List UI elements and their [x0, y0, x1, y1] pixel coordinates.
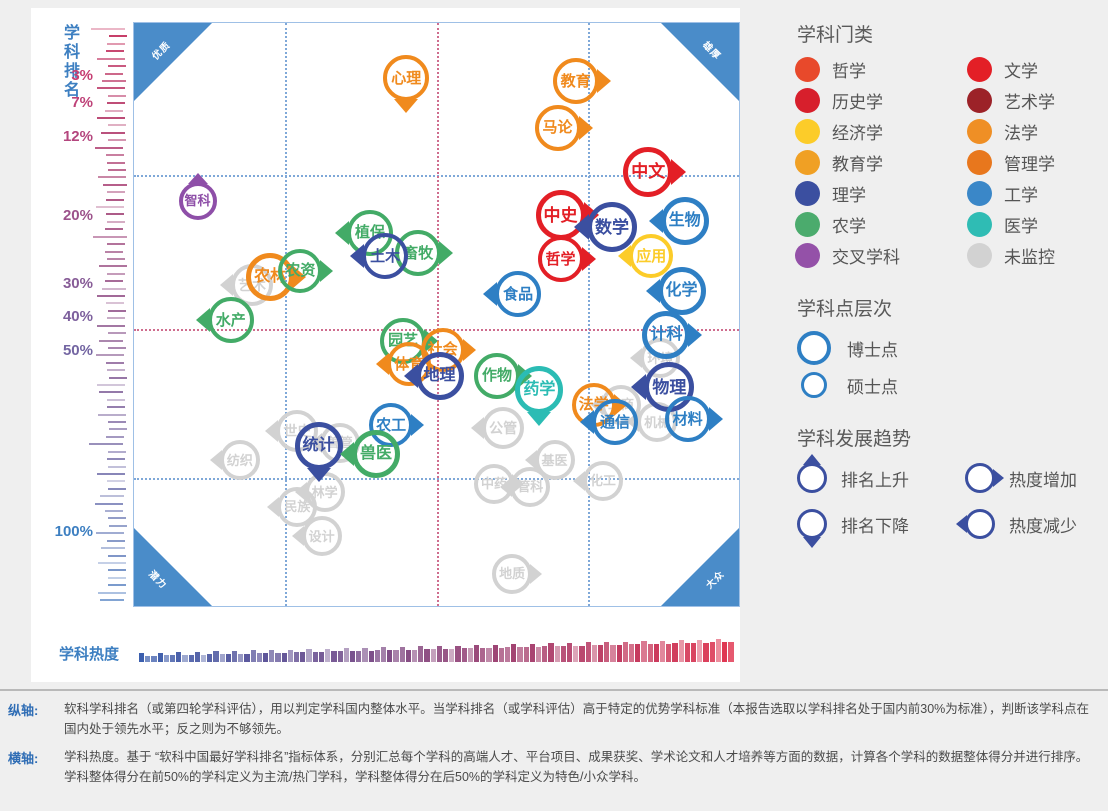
trend-left-icon	[267, 497, 279, 517]
legend-trend-label: 排名下降	[841, 512, 909, 537]
quadrant-divider-vertical	[437, 23, 439, 606]
x-axis-tick	[468, 648, 473, 662]
legend-item-未监控[interactable]: 未监控	[967, 243, 1095, 268]
bubble-label: 地质	[499, 567, 525, 580]
bubble-label: 农资	[285, 263, 315, 278]
y-axis-tick	[107, 540, 125, 542]
legend-level-label: 博士点	[847, 336, 898, 361]
bubble-管科[interactable]: 管科	[510, 467, 550, 507]
x-axis-tick	[306, 649, 311, 662]
y-axis-tick	[102, 80, 126, 82]
y-axis-tick	[106, 199, 124, 201]
legend-trend-label: 排名上升	[841, 466, 909, 491]
legend-item-农学[interactable]: 农学	[795, 212, 967, 237]
y-axis-tick	[100, 495, 124, 497]
trend-left-icon	[618, 245, 631, 267]
y-axis-tick	[95, 503, 123, 505]
y-axis-tick	[98, 176, 126, 178]
y-axis-tick	[91, 28, 125, 30]
y-axis-tick	[107, 43, 125, 45]
legend-swatch-icon	[795, 150, 820, 175]
y-axis-tick	[109, 525, 127, 527]
y-axis-tick	[99, 391, 123, 393]
y-axis-tick	[108, 310, 126, 312]
y-axis-tick-label: 100%	[55, 523, 93, 540]
x-axis-tick	[400, 647, 405, 662]
legend-trend-label: 热度增加	[1009, 466, 1077, 491]
bubble-水产[interactable]: 水产	[208, 297, 254, 343]
legend-swatch-icon	[967, 181, 992, 206]
bubble-label: 纺织	[227, 454, 253, 467]
x-axis-tick	[517, 647, 522, 662]
legend-item-经济学[interactable]: 经济学	[795, 119, 967, 144]
x-axis-tick	[350, 651, 355, 662]
bubble-label: 数学	[595, 219, 629, 236]
trend-right-icon	[320, 260, 333, 282]
footnote-row: 横轴: 学科热度。基于 “软科中国最好学科排名”指标体系，分别汇总每个学科的高端…	[8, 747, 1108, 787]
x-axis-tick	[505, 647, 510, 662]
y-axis-tick	[108, 139, 126, 141]
y-axis-tick-label: 50%	[63, 342, 93, 359]
x-axis-tick	[338, 651, 343, 662]
bubble-化工[interactable]: 化工	[583, 461, 623, 501]
legend-item-教育学[interactable]: 教育学	[795, 150, 967, 175]
bubble-label: 食品	[503, 287, 533, 302]
y-axis-tick	[108, 347, 126, 349]
quadrant-corner-bottom-left	[134, 528, 212, 606]
x-axis-tick	[617, 645, 622, 662]
legend-level-硕士点[interactable]: 硕士点	[795, 372, 1095, 398]
trend-right-icon	[597, 69, 611, 93]
y-axis-tick	[108, 517, 126, 519]
x-axis-tick	[722, 642, 727, 662]
x-axis-tick	[610, 645, 615, 662]
bubble-label: 心理	[391, 71, 421, 86]
bubble-label: 药学	[523, 382, 555, 398]
bubble-计科[interactable]: 计科	[642, 311, 690, 359]
legend-swatch-icon	[795, 181, 820, 206]
footnotes: 纵轴: 软科学科排名（或第四轮学科评估），用以判定学科国内整体水平。当学科排名（…	[0, 689, 1108, 811]
bubble-哲学[interactable]: 哲学	[538, 236, 584, 282]
legend-item-label: 教育学	[832, 150, 883, 175]
footnote-text: 学科热度。基于 “软科中国最好学科排名”指标体系，分别汇总每个学科的高端人才、平…	[64, 747, 1094, 787]
x-axis-tick	[629, 644, 634, 662]
bubble-label: 基医	[541, 454, 567, 467]
x-axis-tick	[542, 646, 547, 662]
x-axis-tick	[716, 639, 721, 662]
level-ring-icon	[797, 331, 831, 365]
legend-item-管理学[interactable]: 管理学	[967, 150, 1095, 175]
bubble-纺织[interactable]: 纺织	[220, 440, 260, 480]
x-axis-tick	[189, 655, 194, 662]
x-axis-tick	[697, 640, 702, 662]
trend-right-icon	[579, 116, 593, 140]
x-axis-tick	[493, 645, 498, 662]
trend-down-icon	[394, 99, 418, 113]
bubble-label: 中文	[631, 163, 665, 180]
x-axis-tick	[344, 648, 349, 662]
x-axis-tick	[176, 652, 181, 662]
y-axis-tick	[107, 480, 125, 482]
bubble-label: 管科	[517, 480, 543, 493]
y-axis-tick	[108, 451, 126, 453]
x-axis-tick	[145, 656, 150, 662]
bubble-label: 教育	[561, 74, 591, 89]
bubble-生物[interactable]: 生物	[661, 197, 709, 245]
trend-right-icon	[671, 159, 686, 185]
x-axis-tick	[257, 653, 262, 662]
legend-category-list: 哲学文学历史学艺术学经济学法学教育学管理学理学工学农学医学交叉学科未监控	[795, 57, 1095, 268]
x-axis-tick	[561, 646, 566, 662]
trend-left-icon	[292, 526, 304, 546]
y-axis-tick-label: 40%	[63, 308, 93, 325]
x-axis-tick	[282, 653, 287, 662]
bubble-label: 计科	[650, 327, 682, 343]
trend-left-icon	[210, 450, 222, 470]
legend-level-title: 学科点层次	[797, 294, 1095, 321]
x-axis-tick	[263, 653, 268, 662]
trend-right-icon	[411, 414, 424, 436]
bubble-label: 马论	[542, 120, 572, 135]
x-axis-tick	[232, 651, 237, 662]
legend-item-医学[interactable]: 医学	[967, 212, 1095, 237]
y-axis-tick	[106, 362, 124, 364]
y-axis-tick	[107, 317, 125, 319]
y-axis-tick	[107, 369, 125, 371]
legend-item-法学[interactable]: 法学	[967, 119, 1095, 144]
x-axis-tick	[623, 642, 628, 663]
x-axis-tick	[437, 646, 442, 662]
y-axis-tick	[97, 325, 125, 327]
trend-right-icon	[688, 323, 702, 347]
x-axis-tick	[586, 642, 591, 662]
x-axis-tick	[648, 644, 653, 662]
trend-down-icon	[527, 412, 551, 426]
y-axis-tick	[97, 58, 125, 60]
x-axis-tick	[455, 646, 460, 663]
bubble-药学[interactable]: 药学	[515, 366, 563, 414]
trend-left-icon	[265, 420, 278, 442]
trend-left-icon	[483, 282, 497, 306]
trend-left-icon	[404, 364, 418, 388]
legend-item-工学[interactable]: 工学	[967, 181, 1095, 206]
y-axis-tick	[108, 421, 126, 423]
legend-swatch-icon	[795, 243, 820, 268]
y-axis-tick	[97, 473, 125, 475]
x-axis-tick	[226, 654, 231, 662]
y-axis-tick	[109, 35, 127, 37]
footnote-key: 纵轴:	[8, 699, 64, 739]
legend-item-label: 历史学	[832, 88, 883, 113]
y-axis-tick	[107, 162, 125, 164]
legend-trend-热度增加[interactable]: 热度增加	[963, 461, 1095, 495]
x-axis-tick	[151, 656, 156, 662]
footnote-row: 纵轴: 软科学科排名（或第四轮学科评估），用以判定学科国内整体水平。当学科排名（…	[8, 699, 1108, 739]
trend-right-icon	[530, 564, 542, 584]
bubble-地理[interactable]: 地理	[416, 352, 464, 400]
x-axis-tick	[294, 652, 299, 662]
legend-item-文学[interactable]: 文学	[967, 57, 1095, 82]
legend-item-label: 工学	[1004, 181, 1038, 206]
x-axis-tick	[418, 646, 423, 662]
y-axis-tick	[106, 302, 124, 304]
y-axis-tick	[107, 258, 125, 260]
trend-left-icon	[963, 507, 997, 541]
bubble-label: 化工	[590, 474, 616, 487]
bubble-智科[interactable]: 智科	[179, 182, 217, 220]
y-axis-tick	[108, 332, 126, 334]
y-axis-tick	[109, 377, 127, 379]
x-axis-tick	[641, 641, 646, 662]
y-axis-tick	[107, 243, 125, 245]
legend-swatch-icon	[967, 57, 992, 82]
legend-item-label: 经济学	[832, 119, 883, 144]
x-axis-tick	[474, 645, 479, 662]
y-axis-tick	[105, 228, 123, 230]
x-axis-tick	[728, 642, 733, 662]
x-axis-tick	[449, 649, 454, 662]
legend-swatch-icon	[967, 88, 992, 113]
trend-right-icon	[463, 339, 476, 361]
x-axis-tick	[207, 654, 212, 662]
bubble-label: 应用	[636, 249, 666, 264]
x-axis-tick	[480, 648, 485, 662]
x-axis-tick	[530, 644, 535, 662]
trend-left-icon	[335, 221, 349, 245]
y-axis-tick	[96, 532, 124, 534]
trend-left-icon	[196, 308, 210, 332]
x-axis-heat-strip	[139, 640, 734, 662]
x-axis-tick	[598, 645, 603, 662]
y-axis-tick	[107, 191, 125, 193]
y-axis-tick	[99, 340, 123, 342]
bubble-通信[interactable]: 通信	[592, 399, 638, 445]
legend-trend-排名上升[interactable]: 排名上升	[795, 461, 963, 495]
x-axis-tick	[691, 643, 696, 662]
x-axis-tick	[654, 644, 659, 662]
bubble-地质[interactable]: 地质	[492, 554, 532, 594]
legend-category-title: 学科门类	[797, 20, 1095, 47]
x-axis-tick	[375, 650, 380, 662]
x-axis-tick	[462, 648, 467, 662]
x-axis-title: 学科热度	[59, 643, 119, 664]
footnote-text: 软科学科排名（或第四轮学科评估），用以判定学科国内整体水平。当学科排名（或学科评…	[64, 699, 1094, 739]
trend-left-icon	[646, 279, 660, 303]
x-axis-tick	[387, 650, 392, 662]
x-axis-tick	[220, 654, 225, 662]
quadrant-corner-top-left	[134, 23, 212, 101]
x-axis-tick	[170, 655, 175, 662]
legend-item-label: 哲学	[832, 57, 866, 82]
x-axis-tick	[313, 652, 318, 662]
y-axis-tick	[105, 73, 123, 75]
y-axis-tick	[98, 562, 126, 564]
y-axis-tick	[107, 458, 125, 460]
trend-left-icon	[630, 348, 642, 368]
bubble-作物[interactable]: 作物	[474, 353, 520, 399]
y-axis-tick	[98, 592, 126, 594]
y-axis-tick-label: 20%	[63, 207, 93, 224]
x-axis-tick	[604, 642, 609, 662]
trend-left-icon	[376, 353, 389, 375]
x-axis-tick	[331, 651, 336, 662]
y-axis-tick	[107, 273, 125, 275]
x-axis-tick	[567, 643, 572, 662]
bubble-统计[interactable]: 统计	[295, 422, 343, 470]
x-axis-tick	[251, 650, 256, 662]
trend-right-icon	[963, 461, 997, 495]
x-axis-tick	[672, 643, 677, 662]
bubble-label: 生物	[669, 213, 701, 229]
y-axis-tick	[97, 295, 125, 297]
trend-up-icon	[795, 461, 829, 495]
trend-left-icon	[631, 374, 646, 400]
x-axis-tick	[511, 644, 516, 662]
y-axis-tick	[96, 206, 124, 208]
x-axis-tick	[679, 640, 684, 662]
x-axis-tick	[548, 643, 553, 662]
trend-left-icon	[340, 442, 354, 466]
bubble-食品[interactable]: 食品	[495, 271, 541, 317]
x-axis-tick	[666, 644, 671, 663]
bubble-label: 智科	[184, 194, 210, 207]
bubble-label: 公管	[489, 421, 517, 435]
y-axis-tick	[108, 555, 126, 557]
bubble-label: 作物	[482, 368, 512, 383]
bubble-label: 兽医	[360, 446, 392, 462]
x-axis-tick	[555, 646, 560, 662]
y-axis-tick-label: 7%	[71, 94, 93, 111]
legend-item-交叉学科[interactable]: 交叉学科	[795, 243, 967, 268]
legend-item-label: 农学	[832, 212, 866, 237]
x-axis-tick	[158, 653, 163, 662]
y-axis-tick	[105, 110, 123, 112]
x-axis-tick	[244, 654, 249, 663]
footnote-key: 横轴:	[8, 747, 64, 787]
legend-item-哲学[interactable]: 哲学	[795, 57, 967, 82]
y-axis-tick	[98, 414, 126, 416]
bubble-心理[interactable]: 心理	[383, 55, 429, 101]
bubble-label: 化学	[665, 283, 697, 299]
y-axis-tick	[97, 87, 125, 89]
trend-left-icon	[220, 274, 233, 296]
legend-item-label: 医学	[1004, 212, 1038, 237]
legend-item-label: 未监控	[1004, 243, 1055, 268]
legend-trend-list: 排名上升热度增加排名下降热度减少	[795, 461, 1095, 541]
legend-swatch-icon	[967, 243, 992, 268]
bubble-label: 地理	[423, 368, 455, 384]
trend-left-icon	[649, 209, 663, 233]
y-axis-tick	[89, 443, 123, 445]
bubble-label: 土木	[370, 249, 400, 264]
y-axis-tick	[97, 384, 125, 386]
y-axis-tick	[108, 124, 126, 126]
legend-trend-title: 学科发展趋势	[797, 424, 1095, 451]
legend-level-label: 硕士点	[847, 373, 898, 398]
x-axis-tick	[182, 655, 187, 662]
legend-item-历史学[interactable]: 历史学	[795, 88, 967, 113]
bubble-化学[interactable]: 化学	[658, 267, 706, 315]
x-axis-tick	[269, 650, 274, 662]
legend-item-label: 管理学	[1004, 150, 1055, 175]
y-axis-tick	[106, 213, 124, 215]
bubble-中文[interactable]: 中文	[623, 147, 673, 197]
trend-left-icon	[580, 410, 594, 434]
y-axis-tick	[108, 577, 126, 579]
x-axis-tick	[213, 651, 218, 662]
trend-down-icon	[307, 468, 331, 482]
legend-level-list: 博士点硕士点	[795, 331, 1095, 398]
y-axis-tick-label: 30%	[63, 275, 93, 292]
legend-item-艺术学[interactable]: 艺术学	[967, 88, 1095, 113]
y-axis-tick	[108, 466, 126, 468]
legend-swatch-icon	[967, 150, 992, 175]
legend-item-理学[interactable]: 理学	[795, 181, 967, 206]
x-axis-tick	[319, 652, 324, 662]
trend-left-icon	[471, 417, 484, 439]
legend-swatch-icon	[795, 119, 820, 144]
bubble-农资[interactable]: 农资	[278, 249, 322, 293]
legend-item-label: 文学	[1004, 57, 1038, 82]
y-axis-tick	[95, 147, 123, 149]
y-axis-tick	[96, 354, 124, 356]
x-axis-tick	[685, 643, 690, 662]
trend-right-icon	[709, 407, 723, 431]
y-axis-tick	[108, 488, 126, 490]
quadrant-corner-top-right	[661, 23, 739, 101]
bubble-label: 通信	[600, 415, 630, 430]
bubble-兽医[interactable]: 兽医	[352, 430, 400, 478]
plot-area: 优质 雄厚 潜力 大众 心理教育马论中文智科中史数学生物植保畜牧土木哲学应用农林…	[133, 22, 740, 607]
x-axis-tick	[703, 643, 708, 662]
trend-left-icon	[574, 214, 589, 240]
y-axis-tick	[108, 584, 126, 586]
legend-level-博士点[interactable]: 博士点	[795, 331, 1095, 365]
x-axis-tick	[573, 646, 578, 662]
x-axis-tick	[356, 651, 361, 662]
x-axis-tick	[431, 649, 436, 662]
x-axis-tick	[524, 647, 529, 662]
bubble-材料[interactable]: 材料	[665, 396, 711, 442]
level-ring-icon	[801, 372, 827, 398]
trend-left-icon	[350, 244, 364, 268]
x-axis-tick	[300, 652, 305, 662]
bubble-教育[interactable]: 教育	[553, 58, 599, 104]
gridline-v-75	[588, 23, 590, 606]
x-axis-tick	[710, 642, 715, 662]
bubble-label: 中史	[544, 207, 578, 224]
bubble-马论[interactable]: 马论	[535, 105, 581, 151]
bubble-土木[interactable]: 土木	[362, 233, 408, 279]
bubble-公管[interactable]: 公管	[482, 407, 524, 449]
x-axis-tick	[325, 649, 330, 662]
x-axis-tick	[406, 650, 411, 662]
x-axis-tick	[412, 650, 417, 663]
x-axis-tick	[238, 654, 243, 662]
legend-swatch-icon	[795, 212, 820, 237]
y-axis-tick	[100, 599, 124, 601]
legend-trend-热度减少[interactable]: 热度减少	[963, 507, 1095, 541]
y-axis-tick	[101, 132, 125, 134]
x-axis-tick	[579, 646, 584, 663]
legend-trend-排名下降[interactable]: 排名下降	[795, 507, 963, 541]
bubble-label: 林学	[312, 486, 338, 499]
x-axis-tick	[536, 647, 541, 662]
bubble-label: 水产	[216, 313, 246, 328]
x-axis-tick	[486, 648, 491, 662]
bubble-设计[interactable]: 设计	[302, 516, 342, 556]
y-axis-tick	[108, 65, 126, 67]
